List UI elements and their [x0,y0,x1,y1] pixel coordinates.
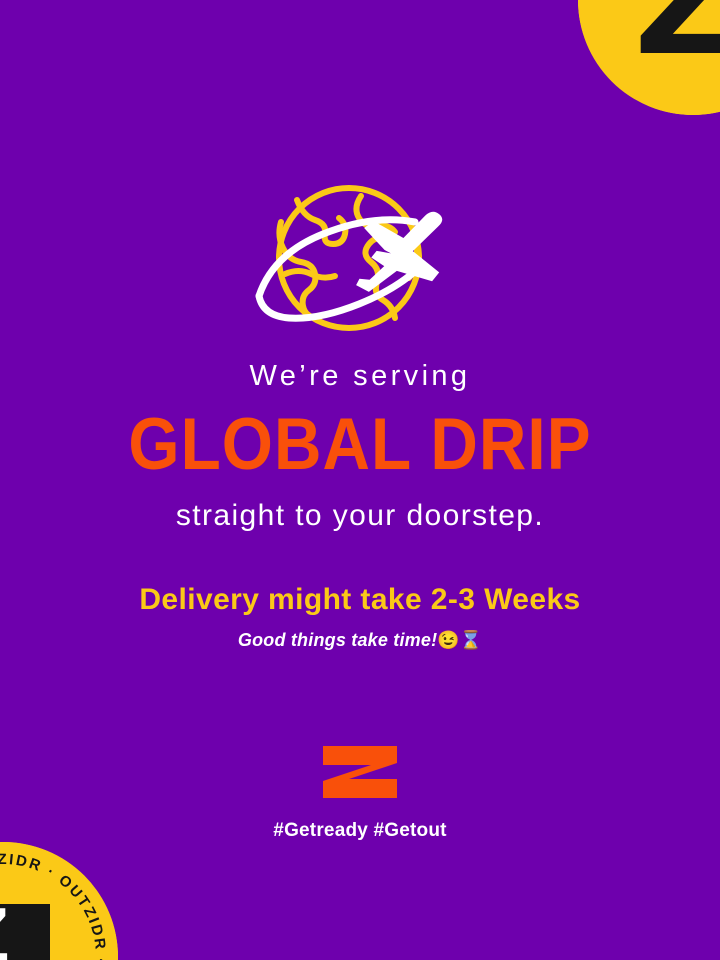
footer-hashtags: #Getready #Getout [0,821,720,840]
delivery-notice: Delivery might take 2-3 Weeks [0,585,720,615]
brand-badge-bottom-left: OUTZIDR · OUTZIDR · OUTZIDR · OUTZIDR · … [0,842,118,960]
headline-subtitle: straight to your doorstep. [0,501,720,531]
hero-icon-wrap [0,178,720,344]
brand-badge-top-right: OUTZIDR · OUTZIDR · OUTZIDR · OUTZIDR · … [578,0,720,115]
footer-lockup: #Getready #Getout [0,745,720,840]
globe-airplane-icon [241,178,479,344]
delivery-tagline: Good things take time!😉⌛ [0,631,720,649]
delivery-tagline-text: Good things take time! [238,630,437,650]
headline-eyebrow: We’re serving [0,362,720,391]
z-logo-icon [319,745,401,799]
badge-center-letter-bl: Z [0,891,10,960]
headline-title: GLOBAL DRIP [0,409,720,482]
badge-center-letter-tr: Z [635,0,720,90]
tagline-emoji: 😉⌛ [437,630,482,650]
headline-block: We’re serving GLOBAL DRIP straight to yo… [0,362,720,649]
poster-canvas: OUTZIDR · OUTZIDR · OUTZIDR · OUTZIDR · … [0,0,720,960]
